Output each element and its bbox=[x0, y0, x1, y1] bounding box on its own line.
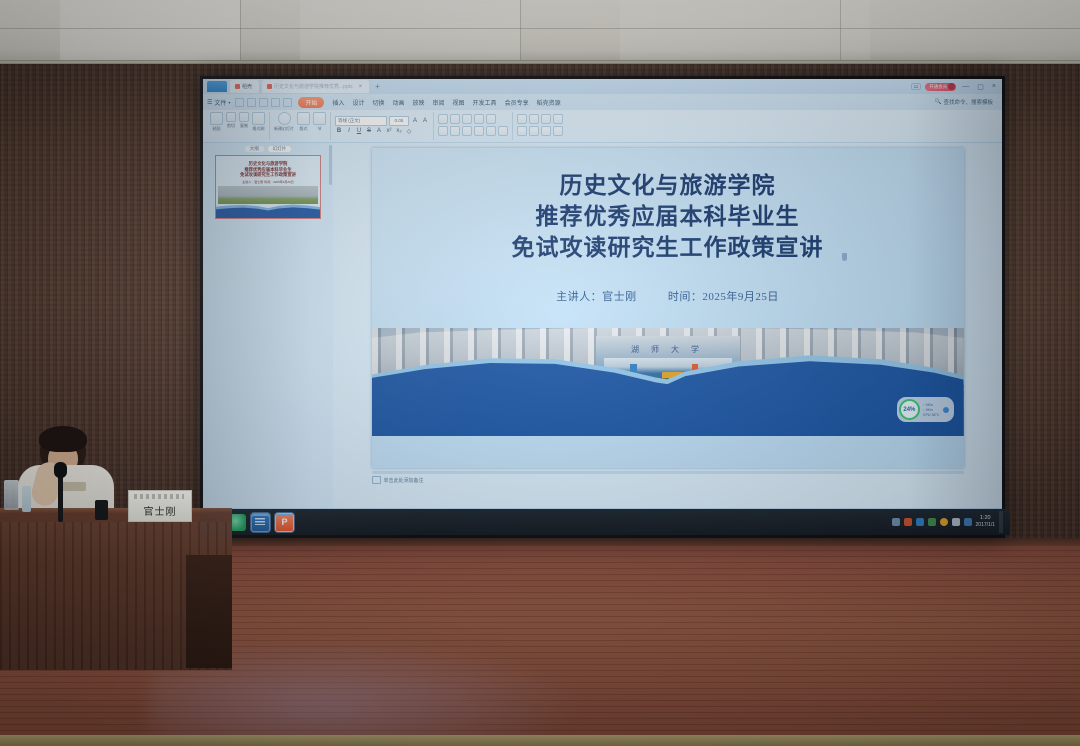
subscript-button[interactable]: x₂ bbox=[395, 128, 403, 134]
slide-title-block[interactable]: 历史文化与旅游学院 推荐优秀应届本科毕业生 免试攻读研究生工作政策宣讲 bbox=[372, 170, 964, 263]
tab-insert[interactable]: 插入 bbox=[332, 98, 344, 107]
search-box[interactable]: 🔍 查找命令、搜索模板 bbox=[935, 98, 998, 106]
close-button[interactable]: × bbox=[990, 83, 998, 90]
paste-icon bbox=[210, 112, 223, 125]
tab-developer[interactable]: 开发工具 bbox=[473, 98, 497, 107]
nameplate-upper-text bbox=[134, 494, 184, 499]
paste-label: 粘贴 bbox=[213, 126, 221, 132]
decrease-indent-icon[interactable] bbox=[462, 114, 472, 124]
quick-style-icon[interactable] bbox=[517, 126, 527, 136]
cut-icon bbox=[226, 112, 236, 122]
shape-fill-icon[interactable] bbox=[541, 114, 551, 124]
current-slide[interactable]: 历史文化与旅游学院 推荐优秀应届本科毕业生 免试攻读研究生工作政策宣讲 主讲人：… bbox=[372, 148, 964, 468]
volume-icon[interactable] bbox=[952, 518, 960, 526]
ceiling bbox=[0, 0, 1080, 64]
search-placeholder: 查找命令、搜索模板 bbox=[943, 98, 993, 106]
tab-slideshow[interactable]: 放映 bbox=[413, 98, 425, 107]
format-painter-label: 格式刷 bbox=[253, 126, 265, 132]
hamburger-icon: ☰ bbox=[207, 99, 212, 106]
thumbnail-title: 历史文化与旅游学院 推荐优秀应届本科毕业生 免试攻读研究生工作政策宣讲 bbox=[216, 161, 320, 178]
thumbnail-view-chips: 大纲 幻灯片 bbox=[203, 146, 333, 152]
save-icon[interactable] bbox=[235, 98, 244, 107]
network-icon[interactable] bbox=[904, 518, 912, 526]
up-arrow-icon[interactable] bbox=[892, 518, 900, 526]
slides-view-chip[interactable]: 幻灯片 bbox=[268, 146, 292, 152]
cut-button[interactable]: 剪切 bbox=[226, 112, 236, 129]
paste-button[interactable]: 粘贴 bbox=[210, 112, 223, 132]
quick-access-toolbar[interactable] bbox=[235, 98, 292, 107]
format-painter-icon bbox=[252, 112, 265, 125]
new-slide-icon bbox=[278, 112, 291, 125]
bold-button[interactable]: B bbox=[335, 128, 343, 134]
wps-logo-icon bbox=[207, 81, 227, 92]
file-menu-label: 文件 bbox=[214, 98, 226, 107]
water-glass bbox=[4, 480, 19, 510]
date-label: 时间：2025年9月25日 bbox=[668, 291, 779, 303]
download-rate: ↓ 9K/s bbox=[923, 408, 940, 412]
clock-time: 1:20 bbox=[980, 515, 991, 522]
search-icon: 🔍 bbox=[935, 99, 942, 105]
podium-side-panel bbox=[186, 555, 232, 668]
ribbon-group-clipboard: 粘贴 剪切 复制 格式刷 bbox=[206, 112, 270, 140]
presenter-hair bbox=[39, 426, 87, 452]
thumbnail-title-line-3: 免试攻读研究生工作政策宣讲 bbox=[216, 172, 320, 178]
arrange-icon[interactable] bbox=[529, 114, 539, 124]
ribbon-tabbar: ☰ 文件 ▾ 开始 插入 设计 切换 动画 放映 审阅 视图 开发工具 bbox=[203, 94, 1002, 110]
tab-view[interactable]: 视图 bbox=[453, 98, 465, 107]
copy-button[interactable]: 复制 bbox=[239, 112, 249, 129]
tab-review[interactable]: 审阅 bbox=[433, 98, 445, 107]
align-center-icon[interactable] bbox=[450, 126, 460, 136]
microphone-head-icon bbox=[54, 462, 67, 478]
tab-docer[interactable]: 稻壳 bbox=[230, 80, 259, 93]
redo-icon[interactable] bbox=[283, 98, 292, 107]
undo-icon[interactable] bbox=[271, 98, 280, 107]
text-color-button[interactable]: A bbox=[375, 128, 383, 134]
nameplate-text: 官士刚 bbox=[144, 503, 177, 521]
shapes-icon[interactable] bbox=[517, 114, 527, 124]
align-right-icon[interactable] bbox=[462, 126, 472, 136]
taskbar-clock[interactable]: 1:20 2017/1/1 bbox=[976, 515, 995, 529]
copy-label: 复制 bbox=[240, 123, 248, 129]
superscript-button[interactable]: x² bbox=[385, 128, 393, 134]
select-objects-icon[interactable] bbox=[553, 126, 563, 136]
new-slide-button[interactable]: 新建幻灯片 bbox=[274, 112, 294, 132]
line-spacing-icon[interactable] bbox=[486, 114, 496, 124]
preview-icon[interactable] bbox=[259, 98, 268, 107]
justify-icon[interactable] bbox=[474, 126, 484, 136]
cpu-temperature: CPU 38°C bbox=[923, 413, 940, 417]
notes-pane[interactable]: 单击此处添加备注 bbox=[372, 471, 964, 484]
battery-icon[interactable] bbox=[928, 518, 936, 526]
slide-title-line-3: 免试攻读研究生工作政策宣讲 bbox=[372, 232, 964, 263]
upload-rate: ↑ 0K/s bbox=[923, 403, 940, 407]
section-label: 节 bbox=[318, 126, 322, 132]
layout-icon bbox=[297, 112, 310, 125]
notes-icon bbox=[372, 476, 381, 484]
lecture-hall-scene: 稻壳 历史文化与旅游学院推荐优秀...pptx × + 11 开通会员 — ▢ … bbox=[0, 0, 1080, 746]
docer-icon bbox=[235, 84, 240, 89]
tab-docer-resource[interactable]: 稻壳资源 bbox=[537, 98, 561, 107]
wps-presentation-icon[interactable] bbox=[275, 513, 294, 532]
windows-taskbar: 1:20 2017/1/1 bbox=[203, 509, 1010, 535]
new-tab-icon[interactable]: + bbox=[375, 82, 380, 91]
tab-transition[interactable]: 切换 bbox=[372, 98, 384, 107]
tab-start[interactable]: 开始 bbox=[298, 97, 324, 108]
layout-button[interactable]: 版式 bbox=[297, 112, 310, 132]
window-titlebar: 稻壳 历史文化与旅游学院推荐优秀...pptx × + 11 开通会员 — ▢ … bbox=[203, 79, 1002, 94]
system-monitor-widget[interactable]: 24% ↑ 0K/s ↓ 9K/s CPU 38°C bbox=[897, 397, 954, 422]
restore-button[interactable]: ▢ bbox=[975, 83, 986, 91]
layout-label: 版式 bbox=[300, 126, 308, 132]
slide-title-line-1: 历史文化与旅游学院 bbox=[372, 170, 964, 201]
ribbon-group-paragraph bbox=[434, 112, 513, 140]
campus-gate-photo: 湖 师 大 学 bbox=[372, 328, 964, 436]
ribbon-toolbar: 粘贴 剪切 复制 格式刷 新建幻灯片 bbox=[203, 110, 1002, 143]
slide-thumbnail-pane[interactable]: 大纲 幻灯片 历史文化与旅游学院 推荐优秀应届本科毕业生 免试攻读研究生工作政策… bbox=[203, 143, 333, 508]
tab-member[interactable]: 会员专享 bbox=[505, 98, 529, 107]
strikethrough-button[interactable]: S bbox=[365, 128, 373, 134]
font-size-input[interactable]: 0.05 bbox=[389, 116, 409, 126]
numbered-list-icon[interactable] bbox=[450, 114, 460, 124]
font-name-input[interactable]: 等线 (正文) bbox=[335, 116, 387, 126]
chevron-down-icon: ▾ bbox=[228, 100, 230, 105]
water-bottle bbox=[22, 486, 31, 512]
monitor-status-icon bbox=[943, 407, 949, 413]
wps-presentation-window: 稻壳 历史文化与旅游学院推荐优秀...pptx × + 11 开通会员 — ▢ … bbox=[203, 79, 1002, 509]
italic-button[interactable]: I bbox=[345, 128, 353, 134]
thumbnail-scrollbar[interactable] bbox=[329, 145, 332, 185]
blue-app-icon[interactable] bbox=[251, 513, 270, 532]
ribbon-group-slides: 新建幻灯片 版式 节 bbox=[270, 112, 331, 140]
cut-label: 剪切 bbox=[227, 123, 235, 129]
shirt-graphic bbox=[60, 482, 86, 491]
find-icon[interactable] bbox=[553, 114, 563, 124]
section-button[interactable]: 节 bbox=[313, 112, 326, 132]
thumbnail-photo bbox=[218, 186, 318, 204]
ppt-file-icon bbox=[267, 84, 272, 89]
tab-animation[interactable]: 动画 bbox=[392, 98, 404, 107]
outline-view-chip[interactable]: 大纲 bbox=[245, 146, 264, 152]
replace-icon[interactable] bbox=[541, 126, 551, 136]
tab-design[interactable]: 设计 bbox=[352, 98, 364, 107]
grow-font-button[interactable]: A bbox=[411, 118, 419, 124]
file-menu-button[interactable]: ☰ 文件 ▾ bbox=[207, 98, 230, 107]
columns-icon[interactable] bbox=[486, 126, 496, 136]
shrink-font-button[interactable]: A bbox=[421, 118, 429, 124]
show-desktop-button[interactable] bbox=[999, 511, 1003, 533]
shield-icon[interactable] bbox=[916, 518, 924, 526]
format-painter-button[interactable]: 格式刷 bbox=[252, 112, 265, 132]
new-slide-label: 新建幻灯片 bbox=[274, 126, 294, 132]
notes-resize-handle[interactable] bbox=[372, 471, 964, 474]
vip-button[interactable]: 开通会员 bbox=[925, 83, 956, 91]
clear-format-button[interactable]: ◇ bbox=[405, 128, 413, 135]
system-monitor-readouts: ↑ 0K/s ↓ 9K/s CPU 38°C bbox=[923, 403, 940, 417]
ribbon-group-drawing bbox=[513, 112, 567, 140]
notification-badge[interactable]: 11 bbox=[911, 83, 922, 90]
minimize-button[interactable]: — bbox=[960, 83, 971, 90]
ribbon-group-font: 等线 (正文) 0.05 A A B I U S A x² x₂ ◇ bbox=[331, 112, 434, 140]
podium-top-edge bbox=[0, 508, 232, 513]
copy-icon bbox=[239, 112, 249, 122]
system-tray: 1:20 2017/1/1 bbox=[892, 511, 1006, 533]
thumbnail-subtitle: 主讲人：官士刚 时间：2025年9月25日 bbox=[216, 180, 320, 184]
gate-inscription: 湖 师 大 学 bbox=[596, 344, 740, 355]
underline-button[interactable]: U bbox=[355, 128, 363, 134]
notes-placeholder[interactable]: 单击此处添加备注 bbox=[384, 477, 424, 484]
text-direction-icon[interactable] bbox=[498, 126, 508, 136]
tab-docer-label: 稻壳 bbox=[242, 83, 252, 90]
tab-document[interactable]: 历史文化与旅游学院推荐优秀...pptx × bbox=[262, 80, 369, 93]
stage-front-edge bbox=[0, 735, 1080, 746]
increase-indent-icon[interactable] bbox=[474, 114, 484, 124]
cpu-usage-ring: 24% bbox=[899, 399, 920, 420]
smartphone bbox=[95, 500, 108, 520]
tab-close-icon[interactable]: × bbox=[359, 84, 363, 90]
slide-title-line-2: 推荐优秀应届本科毕业生 bbox=[372, 201, 964, 232]
notification-icon[interactable] bbox=[964, 518, 972, 526]
bullet-list-icon[interactable] bbox=[438, 114, 448, 124]
ribbon-tabs: 开始 插入 设计 切换 动画 放映 审阅 视图 开发工具 会员专享 稻壳资源 bbox=[298, 97, 560, 108]
sound-icon[interactable] bbox=[940, 518, 948, 526]
slide-thumbnail-1[interactable]: 历史文化与旅游学院 推荐优秀应届本科毕业生 免试攻读研究生工作政策宣讲 主讲人：… bbox=[215, 155, 321, 219]
slide-editing-pane: 历史文化与旅游学院 推荐优秀应届本科毕业生 免试攻读研究生工作政策宣讲 主讲人：… bbox=[333, 143, 1002, 508]
print-icon[interactable] bbox=[247, 98, 256, 107]
align-left-icon[interactable] bbox=[438, 126, 448, 136]
clock-date: 2017/1/1 bbox=[976, 522, 995, 529]
text-cursor-icon bbox=[842, 253, 847, 261]
shape-outline-icon[interactable] bbox=[529, 126, 539, 136]
editor-workarea: 大纲 幻灯片 历史文化与旅游学院 推荐优秀应届本科毕业生 免试攻读研究生工作政策… bbox=[203, 143, 1002, 508]
tab-document-label: 历史文化与旅游学院推荐优秀...pptx bbox=[274, 83, 353, 90]
slide-subtitle-block[interactable]: 主讲人：官士刚 时间：2025年9月25日 bbox=[372, 288, 964, 304]
presenter-label: 主讲人：官士刚 bbox=[556, 291, 637, 303]
section-icon bbox=[313, 112, 326, 125]
